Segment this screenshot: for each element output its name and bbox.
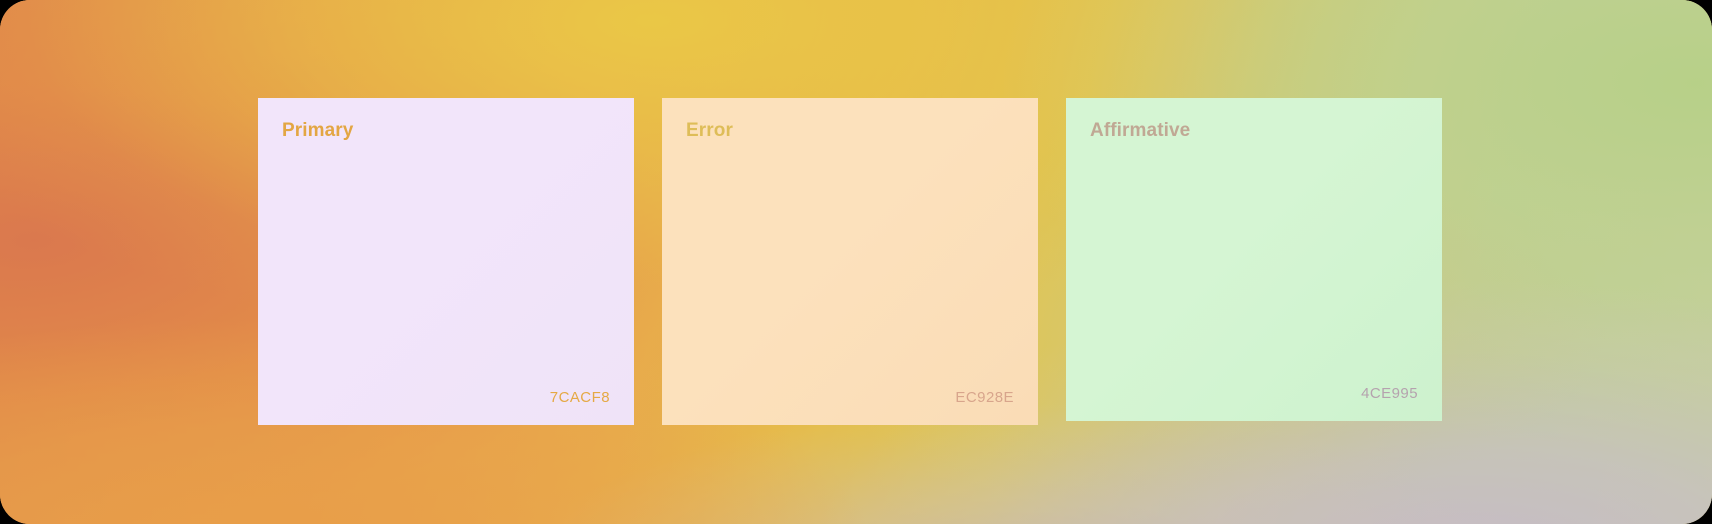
swatch-hex-primary: 7CACF8 — [282, 389, 610, 407]
swatch-row: Primary 7CACF8 Error EC928E Affirmative … — [258, 98, 1442, 425]
swatch-name-primary: Primary — [282, 120, 610, 143]
swatch-hex-affirmative: 4CE995 — [1090, 385, 1418, 403]
swatch-name-affirmative: Affirmative — [1090, 120, 1418, 143]
palette-canvas: Primary 7CACF8 Error EC928E Affirmative … — [0, 0, 1712, 524]
swatch-name-error: Error — [686, 120, 1014, 143]
swatch-hex-error: EC928E — [686, 389, 1014, 407]
swatch-card-affirmative[interactable]: Affirmative 4CE995 — [1066, 98, 1442, 421]
swatch-card-error[interactable]: Error EC928E — [662, 98, 1038, 425]
swatch-card-primary[interactable]: Primary 7CACF8 — [258, 98, 634, 425]
